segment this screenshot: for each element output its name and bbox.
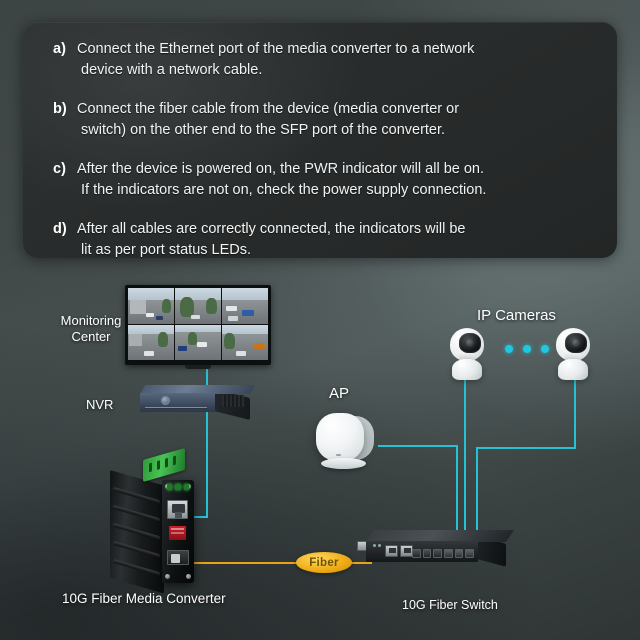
ip-camera	[553, 328, 593, 380]
label-ap: AP	[329, 386, 349, 402]
monitoring-center-display	[125, 285, 271, 365]
cable-ap-to-switch-horizontal	[378, 445, 458, 447]
converter-screw	[165, 574, 170, 579]
instruction-a-line1: Connect the Ethernet port of the media c…	[77, 41, 474, 57]
label-nvr: NVR	[86, 397, 113, 413]
led-act	[184, 484, 189, 490]
label-ip-cameras: IP Cameras	[477, 308, 556, 324]
ip-camera	[447, 328, 487, 380]
ellipsis-dot	[523, 345, 531, 353]
monitor-stand	[185, 365, 211, 369]
wireless-access-point	[308, 410, 380, 470]
instruction-b-line1: Connect the fiber cable from the device …	[77, 101, 459, 117]
nvr-vent	[222, 395, 244, 407]
fiber-switch-device	[366, 530, 506, 570]
ap-indicator	[336, 454, 341, 456]
cctv-tile	[175, 288, 221, 324]
cctv-tile	[222, 325, 268, 361]
switch-sfp-port	[423, 549, 432, 558]
label-fiber-switch: 10G Fiber Switch	[402, 597, 498, 613]
instruction-b-line2: switch) on the other end to the SFP port…	[77, 120, 459, 141]
camera-lens-icon	[459, 333, 481, 353]
instruction-item-c: c) After the device is powered on, the P…	[53, 159, 601, 200]
switch-status-led	[378, 544, 381, 547]
ellipsis-dots	[505, 345, 549, 353]
switch-sfp-ports	[412, 549, 474, 558]
converter-power-terminal-block	[143, 448, 185, 482]
instruction-text-d: After all cables are correctly connected…	[77, 219, 465, 260]
led-link	[175, 484, 180, 490]
instruction-c-line1: After the device is powered on, the PWR …	[77, 161, 484, 177]
switch-sfp-port	[455, 549, 464, 558]
cable-nvr-to-converter-vertical	[206, 398, 208, 517]
ellipsis-dot	[541, 345, 549, 353]
instruction-item-b: b) Connect the fiber cable from the devi…	[53, 99, 601, 140]
ellipsis-dot	[505, 345, 513, 353]
instruction-text-b: Connect the fiber cable from the device …	[77, 99, 459, 140]
label-monitoring-center: Monitoring Center	[56, 313, 126, 345]
cable-camera2-vertical	[574, 372, 576, 448]
nvr-power-button	[161, 396, 170, 405]
instruction-marker-c: c)	[53, 159, 77, 200]
switch-sfp-port	[433, 549, 442, 558]
instruction-marker-b: b)	[53, 99, 77, 140]
converter-rj45-port	[167, 500, 188, 519]
instructions-panel: a) Connect the Ethernet port of the medi…	[23, 22, 617, 258]
camera-base	[558, 359, 588, 380]
ap-base	[321, 458, 366, 469]
instruction-item-a: a) Connect the Ethernet port of the medi…	[53, 39, 601, 80]
cable-camera2-horizontal	[476, 447, 576, 449]
cctv-tile	[175, 325, 221, 361]
converter-red-label	[169, 526, 186, 540]
camera-base	[452, 359, 482, 380]
camera-lens-icon	[565, 333, 587, 353]
instruction-marker-a: a)	[53, 39, 77, 80]
converter-heatsink	[110, 470, 164, 593]
instruction-c-line2: If the indicators are not on, check the …	[77, 180, 486, 201]
switch-sfp-port	[444, 549, 453, 558]
diagram-canvas: a) Connect the Ethernet port of the medi…	[0, 0, 640, 640]
fiber-badge-label: Fiber	[309, 557, 339, 569]
cctv-tile	[128, 325, 174, 361]
switch-rj45-port	[385, 545, 398, 557]
cable-camera1-to-switch	[464, 372, 466, 545]
instruction-a-line2: device with a network cable.	[77, 60, 474, 81]
label-media-converter: 10G Fiber Media Converter	[62, 591, 226, 607]
switch-power-led	[373, 544, 376, 547]
monitor-screen-grid	[128, 288, 268, 360]
media-converter-device	[110, 458, 194, 583]
switch-sfp-port	[465, 549, 474, 558]
converter-screw	[186, 574, 191, 579]
cctv-tile	[128, 288, 174, 324]
nvr-disc-slot	[145, 407, 207, 409]
converter-status-leds	[167, 484, 189, 490]
led-pwr	[167, 484, 172, 490]
instruction-d-line1: After all cables are correctly connected…	[77, 221, 465, 237]
instruction-item-d: d) After all cables are correctly connec…	[53, 219, 601, 260]
converter-sfp-port	[167, 550, 189, 565]
instruction-text-c: After the device is powered on, the PWR …	[77, 159, 486, 200]
nvr-device	[140, 385, 250, 415]
instruction-d-line2: lit as per port status LEDs.	[77, 240, 465, 261]
switch-sfp-port	[412, 549, 421, 558]
instructions-list: a) Connect the Ethernet port of the medi…	[53, 39, 601, 260]
instruction-marker-d: d)	[53, 219, 77, 260]
nvr-front-panel	[140, 393, 215, 412]
instruction-text-a: Connect the Ethernet port of the media c…	[77, 39, 474, 80]
fiber-link-badge: Fiber	[296, 552, 352, 573]
cctv-tile	[222, 288, 268, 324]
